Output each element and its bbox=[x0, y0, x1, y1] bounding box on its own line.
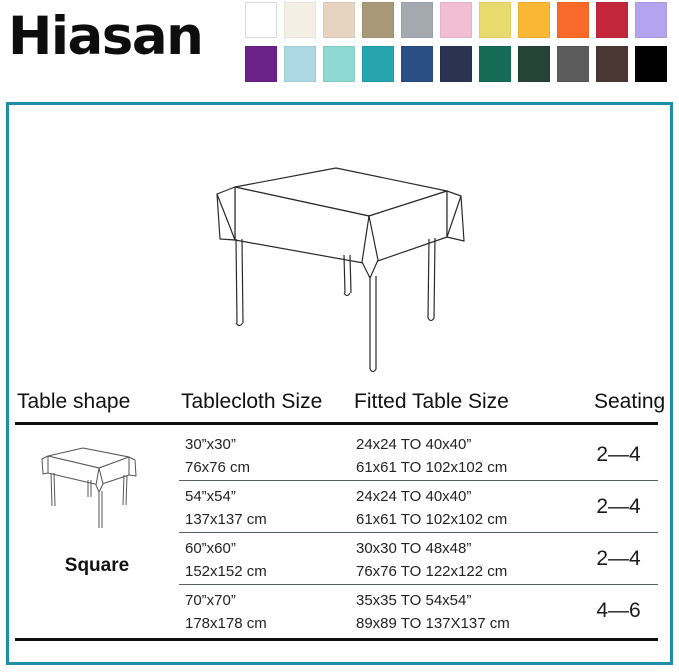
fitted-size-inches: 24x24 TO 40x40” bbox=[356, 433, 507, 456]
color-swatch-marigold[interactable] bbox=[518, 2, 550, 38]
table-shape-cell: Square bbox=[15, 429, 179, 637]
tablecloth-size-cm: 76x76 cm bbox=[185, 456, 250, 479]
table-row: 70”x70”178x178 cm35x35 TO 54x54”89x89 TO… bbox=[179, 585, 658, 637]
fitted-size-cm: 61x61 TO 102x102 cm bbox=[356, 508, 507, 531]
tablecloth-size-inches: 30”x30” bbox=[185, 433, 250, 456]
tablecloth-size-inches: 70”x70” bbox=[185, 589, 267, 612]
cell-seating: 2—4 bbox=[579, 537, 658, 581]
color-swatch-lavender[interactable] bbox=[635, 2, 667, 38]
color-swatch-pink[interactable] bbox=[440, 2, 472, 38]
color-swatch-charcoal[interactable] bbox=[557, 46, 589, 82]
color-swatch-taupe[interactable] bbox=[362, 2, 394, 38]
fitted-size-inches: 24x24 TO 40x40” bbox=[356, 485, 507, 508]
tablecloth-size-cm: 178x178 cm bbox=[185, 612, 267, 635]
color-swatch-grey[interactable] bbox=[401, 2, 433, 38]
color-swatch-panel bbox=[245, 0, 679, 88]
column-header-seating: Seating bbox=[594, 389, 665, 415]
specification-card: Table shape Tablecloth Size Fitted Table… bbox=[6, 102, 673, 665]
color-swatch-orange[interactable] bbox=[557, 2, 589, 38]
color-swatch-navy[interactable] bbox=[440, 46, 472, 82]
footer-divider bbox=[15, 638, 658, 641]
fitted-size-cm: 89x89 TO 137X137 cm bbox=[356, 612, 510, 635]
cell-tablecloth-size: 54”x54”137x137 cm bbox=[185, 485, 267, 531]
color-swatch-emerald[interactable] bbox=[479, 46, 511, 82]
tablecloth-size-inches: 60”x60” bbox=[185, 537, 267, 560]
column-header-fitted-table-size: Fitted Table Size bbox=[354, 389, 509, 415]
color-swatch-forest[interactable] bbox=[518, 46, 550, 82]
swatch-row-1 bbox=[245, 2, 679, 38]
table-row: 30”x30”76x76 cm24x24 TO 40x40”61x61 TO 1… bbox=[179, 429, 658, 481]
cell-fitted-table-size: 30x30 TO 48x48”76x76 TO 122x122 cm bbox=[356, 537, 507, 583]
brand-logo: Hiasan bbox=[8, 6, 202, 68]
cell-seating: 2—4 bbox=[579, 485, 658, 529]
color-swatch-purple[interactable] bbox=[245, 46, 277, 82]
table-shape-label: Square bbox=[15, 555, 179, 577]
color-swatch-white[interactable] bbox=[245, 2, 277, 38]
cell-fitted-table-size: 24x24 TO 40x40”61x61 TO 102x102 cm bbox=[356, 433, 507, 479]
page-header: Hiasan bbox=[0, 0, 679, 96]
cell-tablecloth-size: 70”x70”178x178 cm bbox=[185, 589, 267, 635]
cell-fitted-table-size: 35x35 TO 54x54”89x89 TO 137X137 cm bbox=[356, 589, 510, 635]
color-swatch-beige[interactable] bbox=[323, 2, 355, 38]
cell-fitted-table-size: 24x24 TO 40x40”61x61 TO 102x102 cm bbox=[356, 485, 507, 531]
color-swatch-denim-blue[interactable] bbox=[401, 46, 433, 82]
column-header-table-shape: Table shape bbox=[17, 389, 130, 415]
tablecloth-size-cm: 152x152 cm bbox=[185, 560, 267, 583]
tablecloth-size-cm: 137x137 cm bbox=[185, 508, 267, 531]
square-table-illustration-icon bbox=[184, 147, 494, 377]
color-swatch-black[interactable] bbox=[635, 46, 667, 82]
table-row: 60”x60”152x152 cm30x30 TO 48x48”76x76 TO… bbox=[179, 533, 658, 585]
table-row: 54”x54”137x137 cm24x24 TO 40x40”61x61 TO… bbox=[179, 481, 658, 533]
color-swatch-yellow[interactable] bbox=[479, 2, 511, 38]
header-divider bbox=[15, 422, 658, 425]
color-swatch-red[interactable] bbox=[596, 2, 628, 38]
size-table: Table shape Tablecloth Size Fitted Table… bbox=[9, 377, 670, 662]
fitted-size-cm: 61x61 TO 102x102 cm bbox=[356, 456, 507, 479]
cell-seating: 4—6 bbox=[579, 589, 658, 633]
color-swatch-aqua[interactable] bbox=[323, 46, 355, 82]
color-swatch-teal[interactable] bbox=[362, 46, 394, 82]
column-header-tablecloth-size: Tablecloth Size bbox=[181, 389, 322, 415]
fitted-size-inches: 35x35 TO 54x54” bbox=[356, 589, 510, 612]
fitted-size-inches: 30x30 TO 48x48” bbox=[356, 537, 507, 560]
cell-tablecloth-size: 30”x30”76x76 cm bbox=[185, 433, 250, 479]
fitted-size-cm: 76x76 TO 122x122 cm bbox=[356, 560, 507, 583]
tablecloth-size-inches: 54”x54” bbox=[185, 485, 267, 508]
cell-seating: 2—4 bbox=[579, 433, 658, 477]
color-swatch-light-blue[interactable] bbox=[284, 46, 316, 82]
swatch-row-2 bbox=[245, 46, 679, 82]
cell-tablecloth-size: 60”x60”152x152 cm bbox=[185, 537, 267, 583]
square-table-shape-icon bbox=[39, 443, 157, 547]
color-swatch-dark-brown[interactable] bbox=[596, 46, 628, 82]
color-swatch-ivory[interactable] bbox=[284, 2, 316, 38]
